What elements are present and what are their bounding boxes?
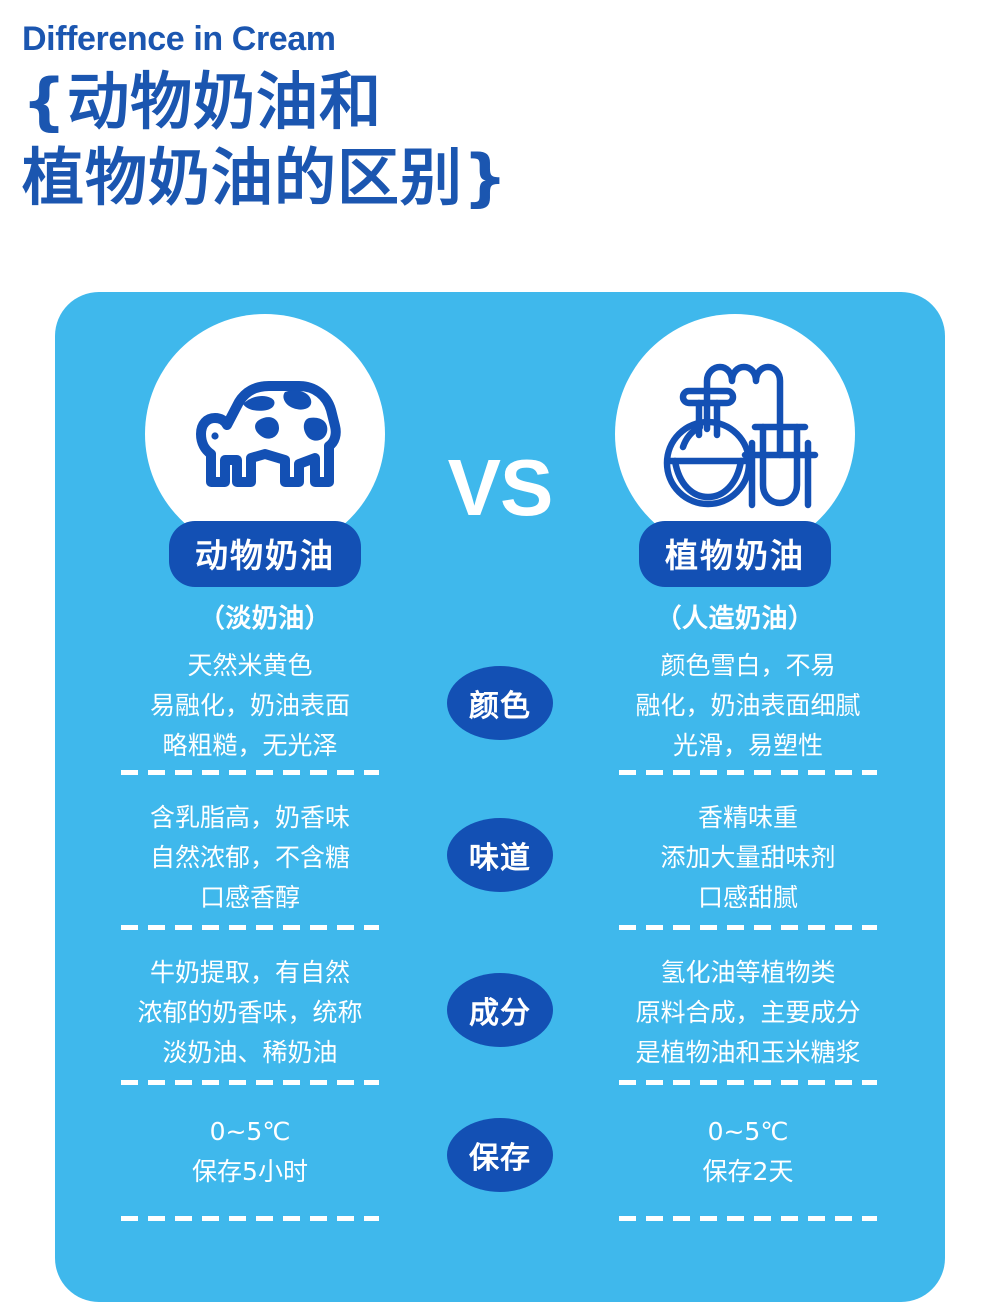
row-right-text: 颜色雪白，不易 融化，奶油表面细腻 光滑，易塑性 — [583, 646, 913, 766]
infographic-page: Difference in Cream {动物奶油和 植物奶油的区别} — [0, 0, 1000, 1307]
comparison-panel: 动物奶油 （淡奶油） VS — [55, 292, 945, 1302]
comparison-row: 0~5℃ 保存5小时 保存 0~5℃ 保存2天 — [55, 1090, 945, 1230]
row-divider-left — [121, 1080, 379, 1085]
animal-cream-subname: （淡奶油） — [115, 598, 415, 635]
lab-flask-icon — [651, 359, 819, 509]
header-eyebrow: Difference in Cream — [22, 18, 922, 60]
row-label-badge: 味道 — [447, 818, 553, 892]
plant-cream-subname: （人造奶油） — [585, 598, 885, 635]
row-right-text: 氢化油等植物类 原料合成，主要成分 是植物油和玉米糖浆 — [583, 953, 913, 1073]
row-label-badge: 颜色 — [447, 666, 553, 740]
plant-cream-name-badge: 植物奶油 — [639, 521, 831, 587]
row-right-text: 0~5℃ 保存2天 — [583, 1112, 913, 1192]
row-divider-right — [619, 1080, 877, 1085]
row-label-badge: 保存 — [447, 1118, 553, 1192]
comparison-row: 天然米黄色 易融化，奶油表面 略粗糙，无光泽 颜色 颜色雪白，不易 融化，奶油表… — [55, 632, 945, 780]
side-plant-cream: 植物奶油 （人造奶油） — [585, 314, 885, 635]
row-label-badge: 成分 — [447, 973, 553, 1047]
row-divider-left — [121, 1216, 379, 1221]
comparison-rows: 天然米黄色 易融化，奶油表面 略粗糙，无光泽 颜色 颜色雪白，不易 融化，奶油表… — [55, 632, 945, 1230]
row-divider-left — [121, 770, 379, 775]
row-divider-right — [619, 925, 877, 930]
row-left-text: 天然米黄色 易融化，奶油表面 略粗糙，无光泽 — [85, 646, 415, 766]
compare-header: 动物奶油 （淡奶油） VS — [55, 314, 945, 634]
comparison-row: 牛奶提取，有自然 浓郁的奶香味，统称 淡奶油、稀奶油 成分 氢化油等植物类 原料… — [55, 935, 945, 1090]
row-right-text: 香精味重 添加大量甜味剂 口感甜腻 — [583, 798, 913, 918]
plant-cream-icon-circle — [615, 314, 855, 554]
page-title: {动物奶油和 植物奶油的区别} — [22, 64, 922, 216]
row-left-text: 含乳脂高，奶香味 自然浓郁，不含糖 口感香醇 — [85, 798, 415, 918]
row-divider-right — [619, 770, 877, 775]
animal-cream-name-badge: 动物奶油 — [169, 521, 361, 587]
comparison-row: 含乳脂高，奶香味 自然浓郁，不含糖 口感香醇 味道 香精味重 添加大量甜味剂 口… — [55, 780, 945, 935]
row-divider-right — [619, 1216, 877, 1221]
row-divider-left — [121, 925, 379, 930]
header: Difference in Cream {动物奶油和 植物奶油的区别} — [22, 18, 922, 216]
row-left-text: 0~5℃ 保存5小时 — [85, 1112, 415, 1192]
row-left-text: 牛奶提取，有自然 浓郁的奶香味，统称 淡奶油、稀奶油 — [85, 953, 415, 1073]
